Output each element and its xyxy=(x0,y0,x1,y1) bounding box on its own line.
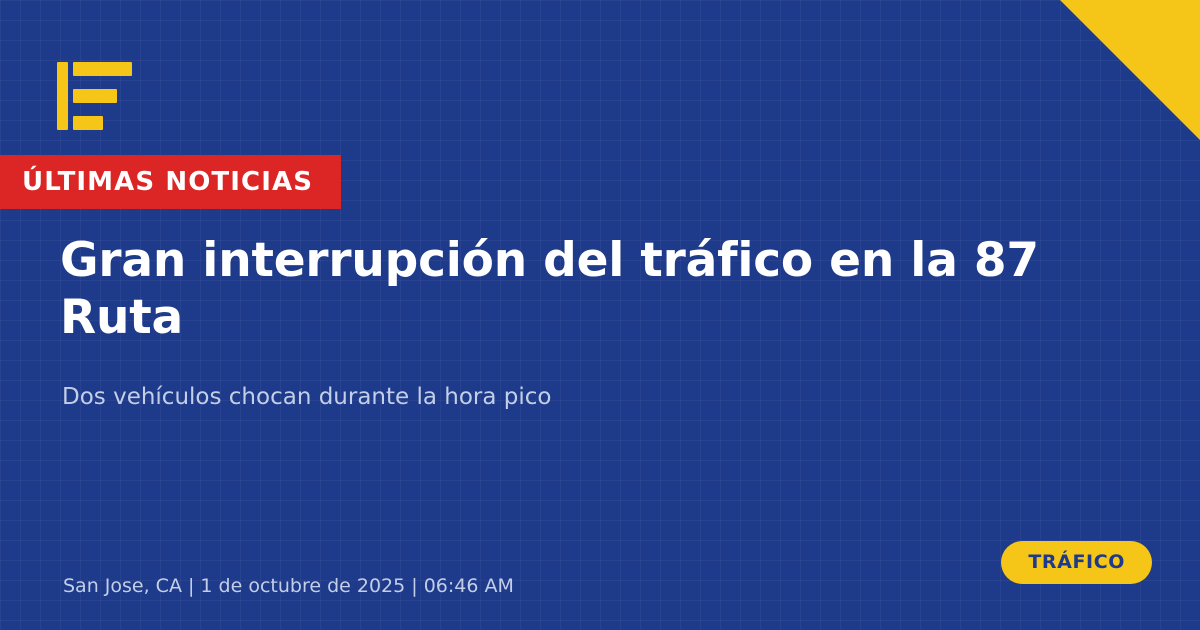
subheadline-text: Dos vehículos chocan durante la hora pic… xyxy=(62,383,1012,413)
breaking-news-badge: ÚLTIMAS NOTICIAS xyxy=(0,155,341,209)
logo-bar-stem xyxy=(57,62,68,130)
logo-bar-bottom xyxy=(73,116,103,130)
news-graphic-card: ÚLTIMAS NOTICIAS Gran interrupción del t… xyxy=(0,0,1200,630)
headline-text: Gran interrupción del tráfico en la 87 R… xyxy=(60,232,1150,347)
category-badge: TRÁFICO xyxy=(1001,541,1152,584)
article-meta-line: San Jose, CA | 1 de octubre de 2025 | 06… xyxy=(63,577,514,596)
logo-bar-top xyxy=(73,62,132,76)
corner-accent-triangle-icon xyxy=(1060,0,1200,140)
logo-bar-middle xyxy=(73,89,117,103)
stacked-bars-logo-icon xyxy=(57,62,137,130)
